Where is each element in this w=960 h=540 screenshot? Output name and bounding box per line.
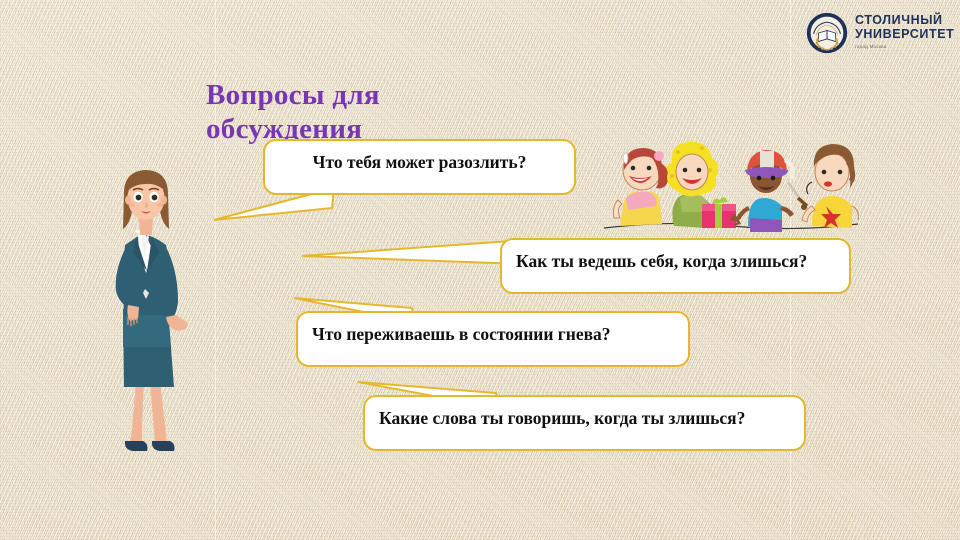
speech-bubble-4[interactable]: Какие слова ты говоришь, когда ты злишьс… bbox=[363, 395, 806, 451]
child-2-girl-yellow-hair bbox=[667, 142, 736, 228]
toy-sword-icon bbox=[788, 182, 807, 210]
logo-line-1: СТОЛИЧНЫЙ bbox=[855, 14, 954, 28]
slide-canvas: СТОЛИЧНЫЙ УНИВЕРСИТЕТ город Москва Вопро… bbox=[0, 0, 960, 540]
children-illustration-group bbox=[602, 140, 860, 236]
speech-bubble-3[interactable]: Что переживаешь в состоянии гнева? bbox=[296, 311, 690, 367]
child-3-boy-helmet-sword bbox=[730, 150, 807, 232]
speech-bubble-2[interactable]: Как ты ведешь себя, когда злишься? bbox=[500, 238, 851, 294]
logo-wordmark: СТОЛИЧНЫЙ УНИВЕРСИТЕТ город Москва bbox=[855, 12, 954, 50]
child-1-girl-red-hair bbox=[614, 148, 669, 226]
university-logo: СТОЛИЧНЫЙ УНИВЕРСИТЕТ город Москва bbox=[806, 12, 956, 60]
child-4-star-shirt bbox=[802, 144, 858, 228]
logo-line-2: УНИВЕРСИТЕТ bbox=[855, 28, 954, 42]
page-title: Вопросы для обсуждения bbox=[206, 78, 536, 146]
speech-bubble-1[interactable]: Что тебя может разозлить? bbox=[263, 139, 576, 195]
bubble-tail-2 bbox=[296, 238, 526, 272]
teacher-woman-illustration bbox=[92, 167, 198, 457]
university-crest-icon bbox=[806, 12, 848, 54]
logo-tagline: город Москва bbox=[855, 44, 954, 50]
